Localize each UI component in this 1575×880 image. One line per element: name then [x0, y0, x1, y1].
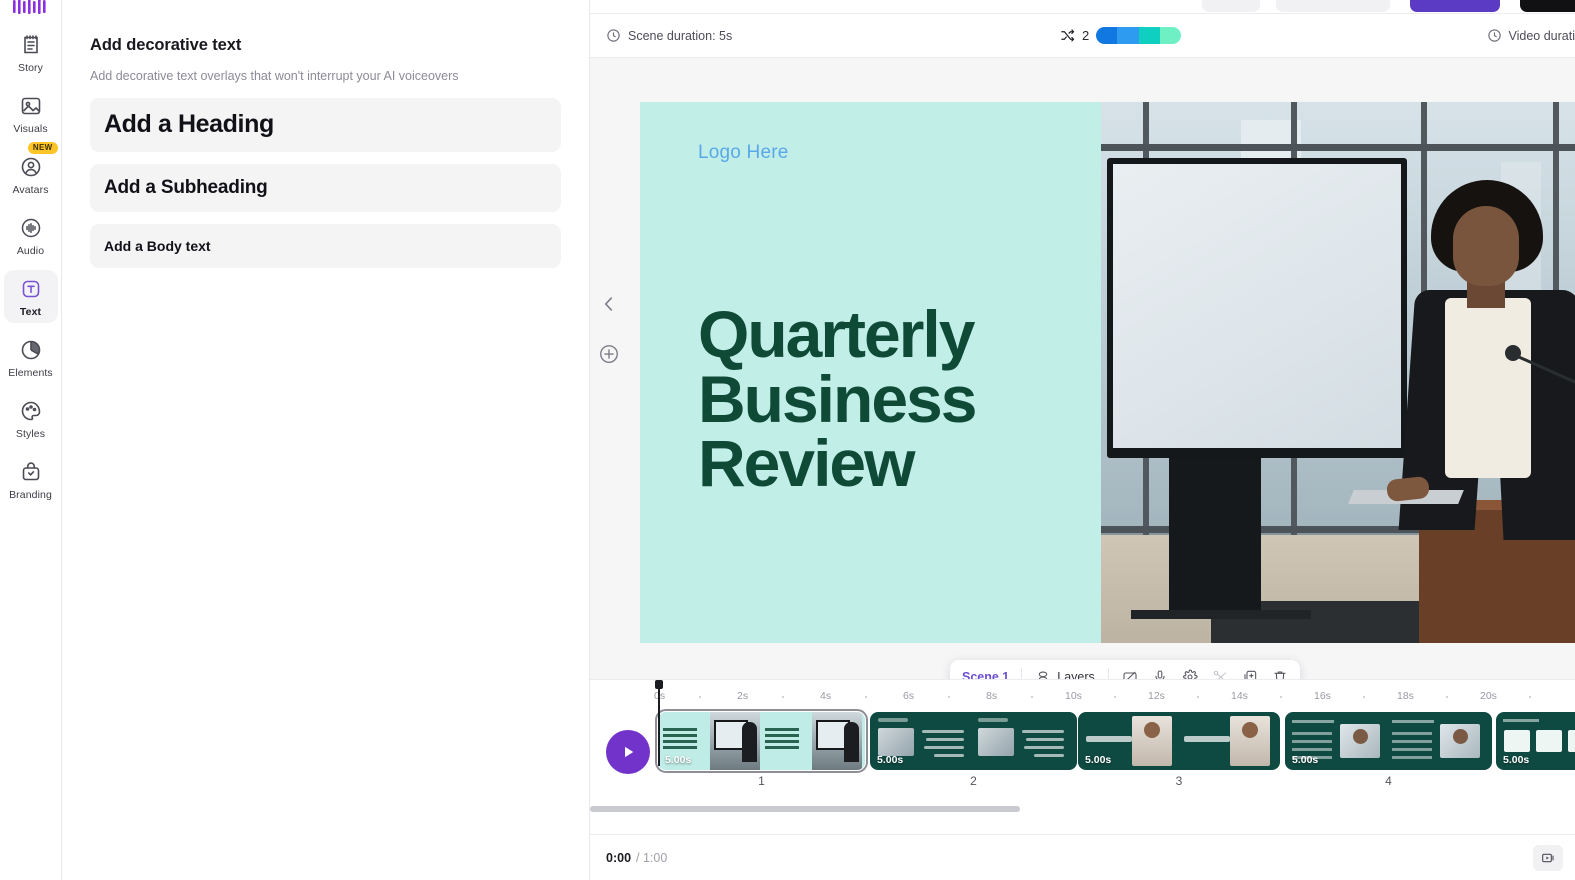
timeline-scrollbar-track[interactable] [590, 806, 1575, 812]
duplicate-icon[interactable] [1242, 669, 1258, 679]
sidebar-item-styles[interactable]: Styles [4, 392, 58, 445]
top-primary-button[interactable] [1410, 0, 1500, 12]
palette-swatch[interactable] [1096, 27, 1181, 44]
scene-title-line-3: Review [698, 431, 975, 496]
sidebar-item-audio[interactable]: Audio [4, 209, 58, 262]
microphone-icon[interactable] [1152, 669, 1168, 679]
clip-duration: 5.00s [877, 754, 903, 766]
sidebar-label-avatars: Avatars [12, 184, 48, 196]
shuffle-icon [1060, 28, 1075, 43]
media-panel-icon [1540, 850, 1556, 866]
clip-thumb [812, 712, 862, 770]
play-icon [619, 743, 637, 761]
timeline: 0s 2s 4s 6s 8s 10s 12s 14s 16s 18s [590, 679, 1575, 834]
video-duration[interactable]: Video durati [1487, 28, 1575, 43]
timeline-clip-2[interactable]: 5.00s [870, 712, 1077, 770]
top-bar-cropped [590, 0, 1575, 14]
tick-label: 8s [986, 690, 997, 702]
sidebar-label-branding: Branding [9, 489, 52, 501]
clip-number: 3 [1078, 774, 1280, 788]
photo-screen-surface [1113, 164, 1401, 448]
palette-icon [19, 399, 43, 423]
app-logo[interactable] [0, 0, 61, 14]
tick-label: 2s [737, 690, 748, 702]
clip-thumb [1176, 712, 1274, 770]
clip-number: 4 [1285, 774, 1492, 788]
hide-subtitle-icon[interactable] [1122, 669, 1138, 679]
timeline-clips: 5.00s 1 [658, 712, 1575, 782]
layers-icon [1035, 669, 1051, 679]
clip-duration: 5.00s [1503, 754, 1529, 766]
transition-control[interactable]: 2 [1060, 27, 1181, 44]
clip-thumb [1385, 712, 1485, 770]
add-heading-label: Add a Heading [104, 110, 274, 139]
total-time: / 1:00 [636, 851, 667, 865]
settings-icon[interactable] [1182, 669, 1198, 679]
app-root: Story Visuals NEW [0, 0, 1575, 880]
trash-icon[interactable] [1272, 669, 1288, 679]
tick-label: 6s [903, 690, 914, 702]
player-footer: 0:00 / 1:00 [590, 834, 1575, 880]
sidebar-label-text: Text [20, 306, 41, 318]
photo-window-rail [1101, 144, 1575, 151]
scene-toolbar: Scene 1 Layers [950, 660, 1300, 679]
tick-label: 18s [1397, 690, 1414, 702]
sidebar-label-story: Story [18, 62, 43, 74]
top-button-1[interactable] [1202, 0, 1260, 12]
timeline-clip-3[interactable]: 5.00s [1078, 712, 1280, 770]
timeline-clip-1[interactable]: 5.00s [658, 712, 865, 770]
clip-thumb [1274, 712, 1280, 770]
panel-title: Add decorative text [90, 36, 561, 55]
sidebar-item-elements[interactable]: Elements [4, 331, 58, 384]
elements-icon [19, 338, 43, 362]
media-panel-button[interactable] [1533, 845, 1563, 871]
scene-duration[interactable]: Scene duration: 5s [606, 28, 732, 43]
add-body-text-button[interactable]: Add a Body text [90, 224, 561, 268]
scene-duration-label: Scene duration: 5s [628, 29, 732, 43]
playhead[interactable] [658, 680, 660, 766]
swatch-3 [1139, 27, 1160, 44]
scene-label[interactable]: Scene 1 [962, 670, 1021, 679]
logo-mark-icon [10, 0, 52, 14]
new-badge: NEW [28, 142, 58, 154]
clip-number: 1 [658, 774, 865, 788]
story-icon [19, 33, 43, 57]
tick-label: 4s [820, 690, 831, 702]
sidebar-label-visuals: Visuals [13, 123, 47, 135]
photo-screen-stand [1169, 458, 1261, 618]
top-dark-button[interactable] [1520, 0, 1575, 12]
image-icon [19, 94, 43, 118]
photo-speaker-shirt [1445, 298, 1531, 478]
layers-button[interactable]: Layers [1022, 669, 1108, 679]
clock-icon [606, 28, 621, 43]
canvas-stage: Logo Here Quarterly Business Review [590, 58, 1575, 679]
sidebar-label-audio: Audio [17, 245, 44, 257]
timeline-scrollbar-thumb[interactable] [590, 806, 1020, 812]
top-button-2[interactable] [1276, 0, 1390, 12]
scissors-icon[interactable] [1212, 669, 1228, 679]
video-duration-label: Video durati [1509, 29, 1575, 43]
scene-title-line-2: Business [698, 367, 975, 432]
panel-subtitle: Add decorative text overlays that won't … [90, 68, 561, 86]
scene-title-line-1: Quarterly [698, 302, 975, 367]
scene-title[interactable]: Quarterly Business Review [698, 302, 975, 496]
sidebar-item-text[interactable]: Text [4, 270, 58, 323]
swatch-2 [1117, 27, 1138, 44]
photo-presentation-screen [1107, 158, 1407, 458]
left-nav-rail: Story Visuals NEW [0, 0, 62, 880]
scene-tool-group [1109, 669, 1288, 679]
clip-thumb [1070, 712, 1077, 770]
text-panel: Add decorative text Add decorative text … [62, 0, 590, 880]
sidebar-item-story[interactable]: Story [4, 26, 58, 79]
text-icon [19, 277, 43, 301]
tick-label: 12s [1148, 690, 1165, 702]
swatch-1 [1096, 27, 1117, 44]
canvas-side-controls [598, 293, 620, 365]
add-subheading-label: Add a Subheading [104, 177, 268, 199]
tick-label: 10s [1065, 690, 1082, 702]
transition-count: 2 [1082, 28, 1089, 43]
clip-thumb [970, 712, 1070, 770]
add-heading-button[interactable]: Add a Heading [90, 98, 561, 152]
photo-speaker-face [1453, 206, 1519, 286]
clip-duration: 5.00s [1085, 754, 1111, 766]
timeline-ruler[interactable]: 0s 2s 4s 6s 8s 10s 12s 14s 16s 18s [658, 686, 1575, 708]
clip-thumb [862, 712, 865, 770]
clip-thumb [760, 712, 812, 770]
photo-screen-foot [1131, 610, 1311, 619]
photo-microphone-head [1505, 345, 1521, 361]
scene-photo [1101, 102, 1575, 643]
scene-text-half: Logo Here Quarterly Business Review [640, 102, 1101, 643]
logo-placeholder-text[interactable]: Logo Here [698, 142, 1101, 164]
sidebar-item-avatars[interactable]: NEW Avatars [4, 148, 58, 201]
clip-duration: 5.00s [1292, 754, 1318, 766]
clip-thumb [710, 712, 760, 770]
sidebar-item-branding[interactable]: Branding [4, 453, 58, 506]
audio-icon [19, 216, 43, 240]
timeline-clip-4[interactable]: 5.00s [1285, 712, 1492, 770]
chevron-left-icon[interactable] [598, 293, 620, 315]
tick-label: 16s [1314, 690, 1331, 702]
timeline-clip-5[interactable]: 5.00s [1496, 712, 1575, 770]
sidebar-item-visuals[interactable]: Visuals [4, 87, 58, 140]
add-subheading-button[interactable]: Add a Subheading [90, 164, 561, 212]
add-body-text-label: Add a Body text [104, 238, 211, 254]
play-button[interactable] [606, 730, 650, 774]
plus-circle-icon[interactable] [598, 343, 620, 365]
tick-label: 14s [1231, 690, 1248, 702]
clock-icon [1487, 28, 1502, 43]
tick-label: 20s [1480, 690, 1497, 702]
branding-icon [19, 460, 43, 484]
layers-label: Layers [1057, 670, 1095, 679]
clip-number: 2 [870, 774, 1077, 788]
scene-preview-frame[interactable]: Logo Here Quarterly Business Review [640, 102, 1575, 643]
sidebar-label-styles: Styles [16, 428, 45, 440]
avatar-icon [19, 155, 43, 179]
sidebar-label-elements: Elements [8, 367, 53, 379]
clip-thumb [1485, 712, 1492, 770]
main-area: Scene duration: 5s 2 [590, 0, 1575, 880]
swatch-4 [1160, 27, 1181, 44]
current-time: 0:00 [606, 851, 631, 865]
clip-duration: 5.00s [665, 754, 691, 766]
canvas-control-bar: Scene duration: 5s 2 [590, 14, 1575, 58]
